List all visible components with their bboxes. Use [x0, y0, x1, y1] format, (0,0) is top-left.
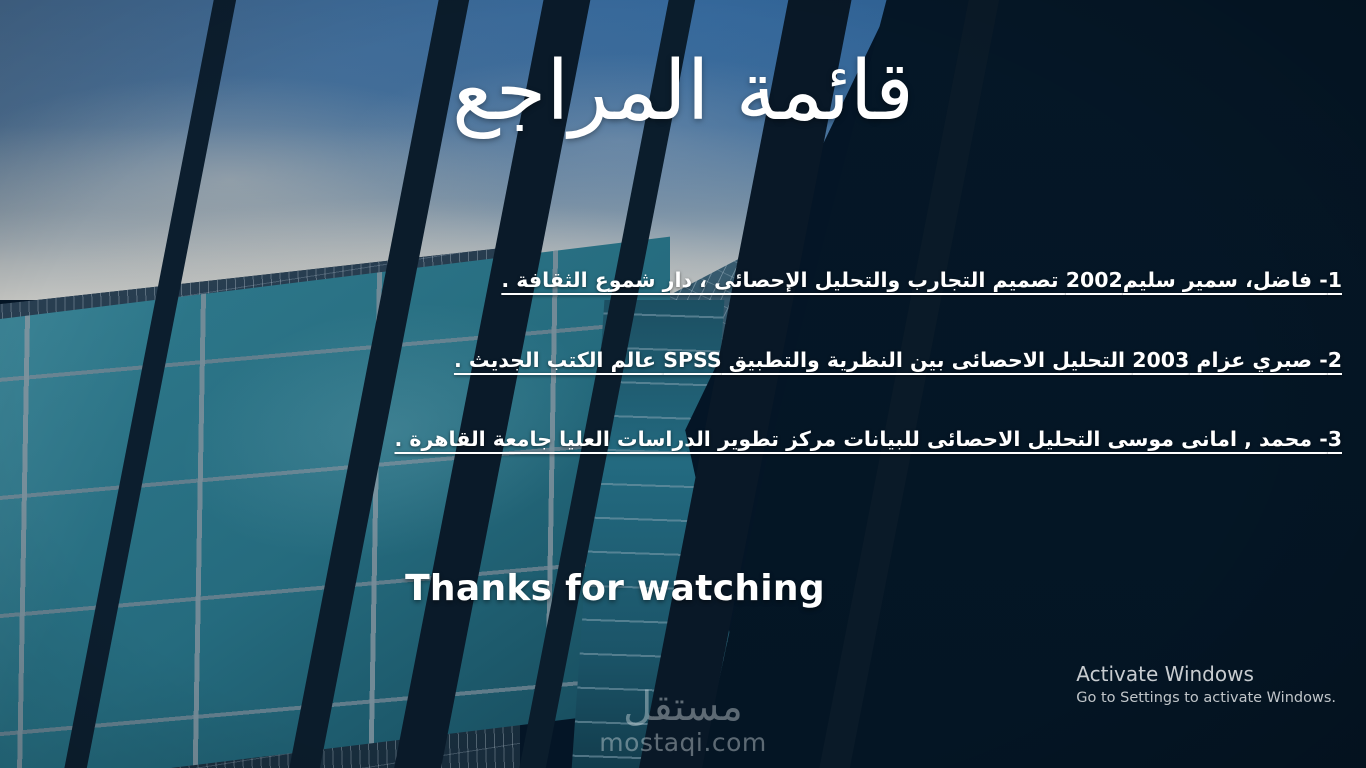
slide-content: قائمة المراجع 1- فاضل، سمير سليم2002 تصم…	[0, 0, 1366, 768]
reference-item-1: 1- فاضل، سمير سليم2002 تصميم التجارب وال…	[40, 268, 1342, 294]
site-watermark-latin: mostaqi.com	[0, 729, 1366, 757]
site-watermark: مستقل mostaqi.com	[0, 687, 1366, 757]
presentation-slide: قائمة المراجع 1- فاضل، سمير سليم2002 تصم…	[0, 0, 1366, 768]
site-watermark-arabic: مستقل	[0, 687, 1366, 727]
reference-item-3-text: 3- محمد , امانى موسى التحليل الاحصائى لل…	[395, 427, 1343, 451]
closing-message-text: Thanks for watching	[405, 568, 825, 609]
closing-message: Thanks for watching	[0, 568, 1366, 609]
references-list: 1- فاضل، سمير سليم2002 تصميم التجارب وال…	[40, 268, 1342, 507]
reference-item-2: 2- صبري عزام 2003 التحليل الاحصائى بين ا…	[40, 348, 1342, 374]
reference-item-3: 3- محمد , امانى موسى التحليل الاحصائى لل…	[40, 427, 1342, 453]
activation-title: Activate Windows	[1076, 661, 1336, 688]
slide-title: قائمة المراجع	[0, 48, 1366, 137]
reference-item-1-text: 1- فاضل، سمير سليم2002 تصميم التجارب وال…	[501, 268, 1342, 292]
reference-item-2-text: 2- صبري عزام 2003 التحليل الاحصائى بين ا…	[454, 348, 1342, 372]
